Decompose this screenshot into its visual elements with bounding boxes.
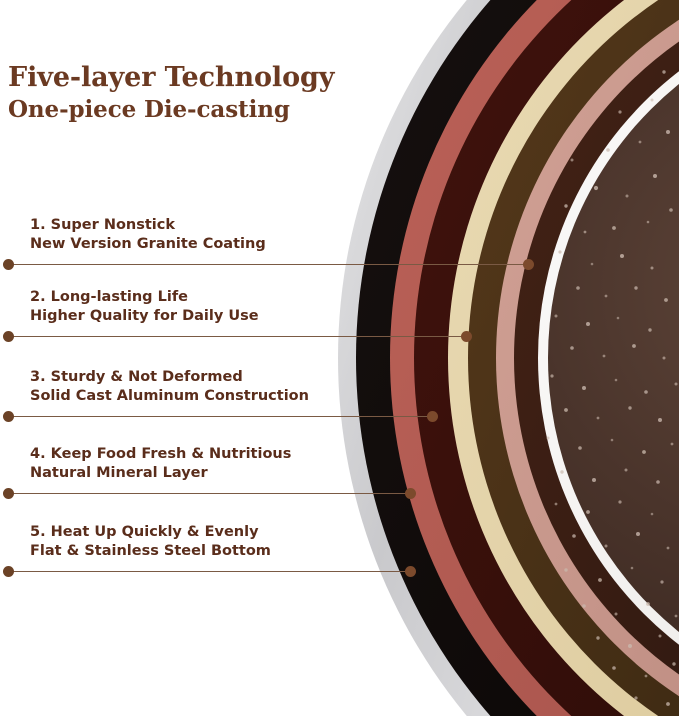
callout-3-leader-line: [10, 416, 432, 417]
callout-3-subtitle: Solid Cast Aluminum Construction: [30, 387, 309, 407]
callout-5-text: 5. Heat Up Quickly & Evenly Flat & Stain…: [30, 523, 271, 562]
callout-5-subtitle: Flat & Stainless Steel Bottom: [30, 542, 271, 562]
callout-2-bullet-dot: [3, 331, 14, 342]
callout-4-title: 4. Keep Food Fresh & Nutritious: [30, 445, 291, 465]
callout-4-endpoint-dot: [405, 488, 416, 499]
callout-4-leader-line: [10, 493, 410, 494]
callout-3-endpoint-dot: [427, 411, 438, 422]
callout-2-text: 2. Long-lasting Life Higher Quality for …: [30, 288, 259, 327]
callout-3-text: 3. Sturdy & Not Deformed Solid Cast Alum…: [30, 368, 309, 407]
title-line-1: Five-layer Technology: [8, 62, 348, 94]
callout-1-title: 1. Super Nonstick: [30, 216, 266, 236]
callout-4-subtitle: Natural Mineral Layer: [30, 464, 291, 484]
callout-5-endpoint-dot: [405, 566, 416, 577]
callout-5-leader-line: [10, 571, 410, 572]
callout-4: 4. Keep Food Fresh & Nutritious Natural …: [0, 422, 679, 494]
callout-4-text: 4. Keep Food Fresh & Nutritious Natural …: [30, 445, 291, 484]
callout-5: 5. Heat Up Quickly & Evenly Flat & Stain…: [0, 500, 679, 572]
callout-4-bullet-dot: [3, 488, 14, 499]
title-line-2: One-piece Die-casting: [8, 96, 348, 124]
callout-5-title: 5. Heat Up Quickly & Evenly: [30, 523, 271, 543]
callout-5-bullet-dot: [3, 566, 14, 577]
callout-2-leader-line: [10, 336, 466, 337]
callout-1-subtitle: New Version Granite Coating: [30, 235, 266, 255]
callout-1: 1. Super Nonstick New Version Granite Co…: [0, 193, 679, 265]
callout-3: 3. Sturdy & Not Deformed Solid Cast Alum…: [0, 345, 679, 417]
callout-3-bullet-dot: [3, 411, 14, 422]
callout-2-subtitle: Higher Quality for Daily Use: [30, 307, 259, 327]
page-title: Five-layer Technology One-piece Die-cast…: [8, 62, 348, 123]
callout-1-text: 1. Super Nonstick New Version Granite Co…: [30, 216, 266, 255]
callout-2-endpoint-dot: [461, 331, 472, 342]
callout-3-title: 3. Sturdy & Not Deformed: [30, 368, 309, 388]
product-infographic: Five-layer Technology One-piece Die-cast…: [0, 0, 679, 716]
callout-2: 2. Long-lasting Life Higher Quality for …: [0, 265, 679, 337]
callout-2-title: 2. Long-lasting Life: [30, 288, 259, 308]
